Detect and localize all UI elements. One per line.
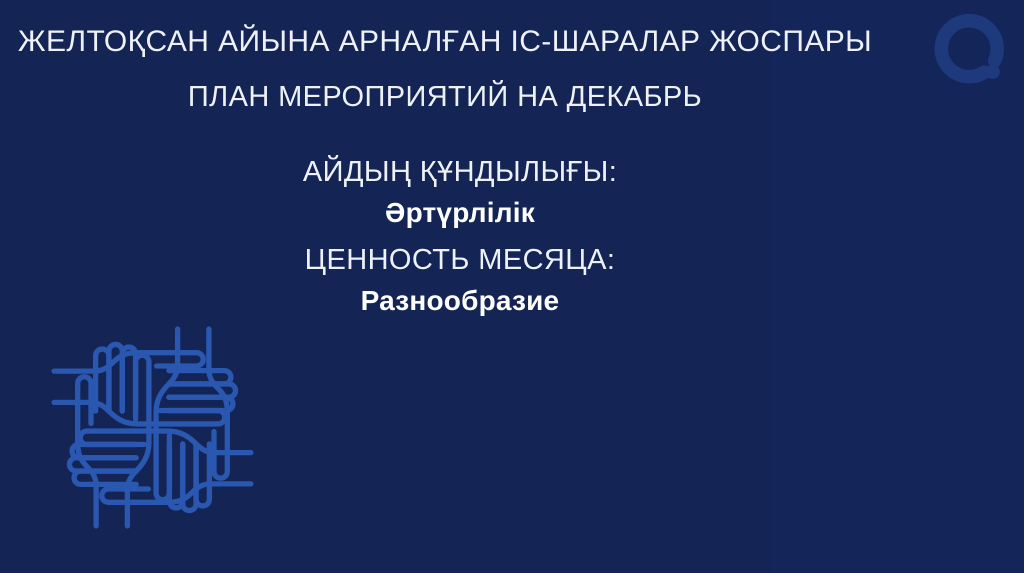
slide-title-block: ЖЕЛТОҚСАН АЙЫНА АРНАЛҒАН ІС-ШАРАЛАР ЖОСП… [0,22,890,116]
presentation-slide: ЖЕЛТОҚСАН АЙЫНА АРНАЛҒАН ІС-ШАРАЛАР ЖОСП… [0,0,1024,573]
four-interlocking-hands-icon [50,325,255,530]
value-word-russian: Разнообразие [0,281,920,322]
value-word-kazakh: Әртүрлілік [0,193,920,234]
value-of-the-month-block: АЙДЫҢ ҚҰНДЫЛЫҒЫ: Әртүрлілік ЦЕННОСТЬ МЕС… [0,152,920,322]
value-label-kazakh: АЙДЫҢ ҚҰНДЫЛЫҒЫ: [0,152,920,193]
q-ring-logo-icon [934,8,1010,88]
value-label-russian: ЦЕННОСТЬ МЕСЯЦА: [0,240,920,281]
slide-title-kazakh: ЖЕЛТОҚСАН АЙЫНА АРНАЛҒАН ІС-ШАРАЛАР ЖОСП… [0,22,890,62]
slide-title-russian: ПЛАН МЕРОПРИЯТИЙ НА ДЕКАБРЬ [0,78,890,116]
